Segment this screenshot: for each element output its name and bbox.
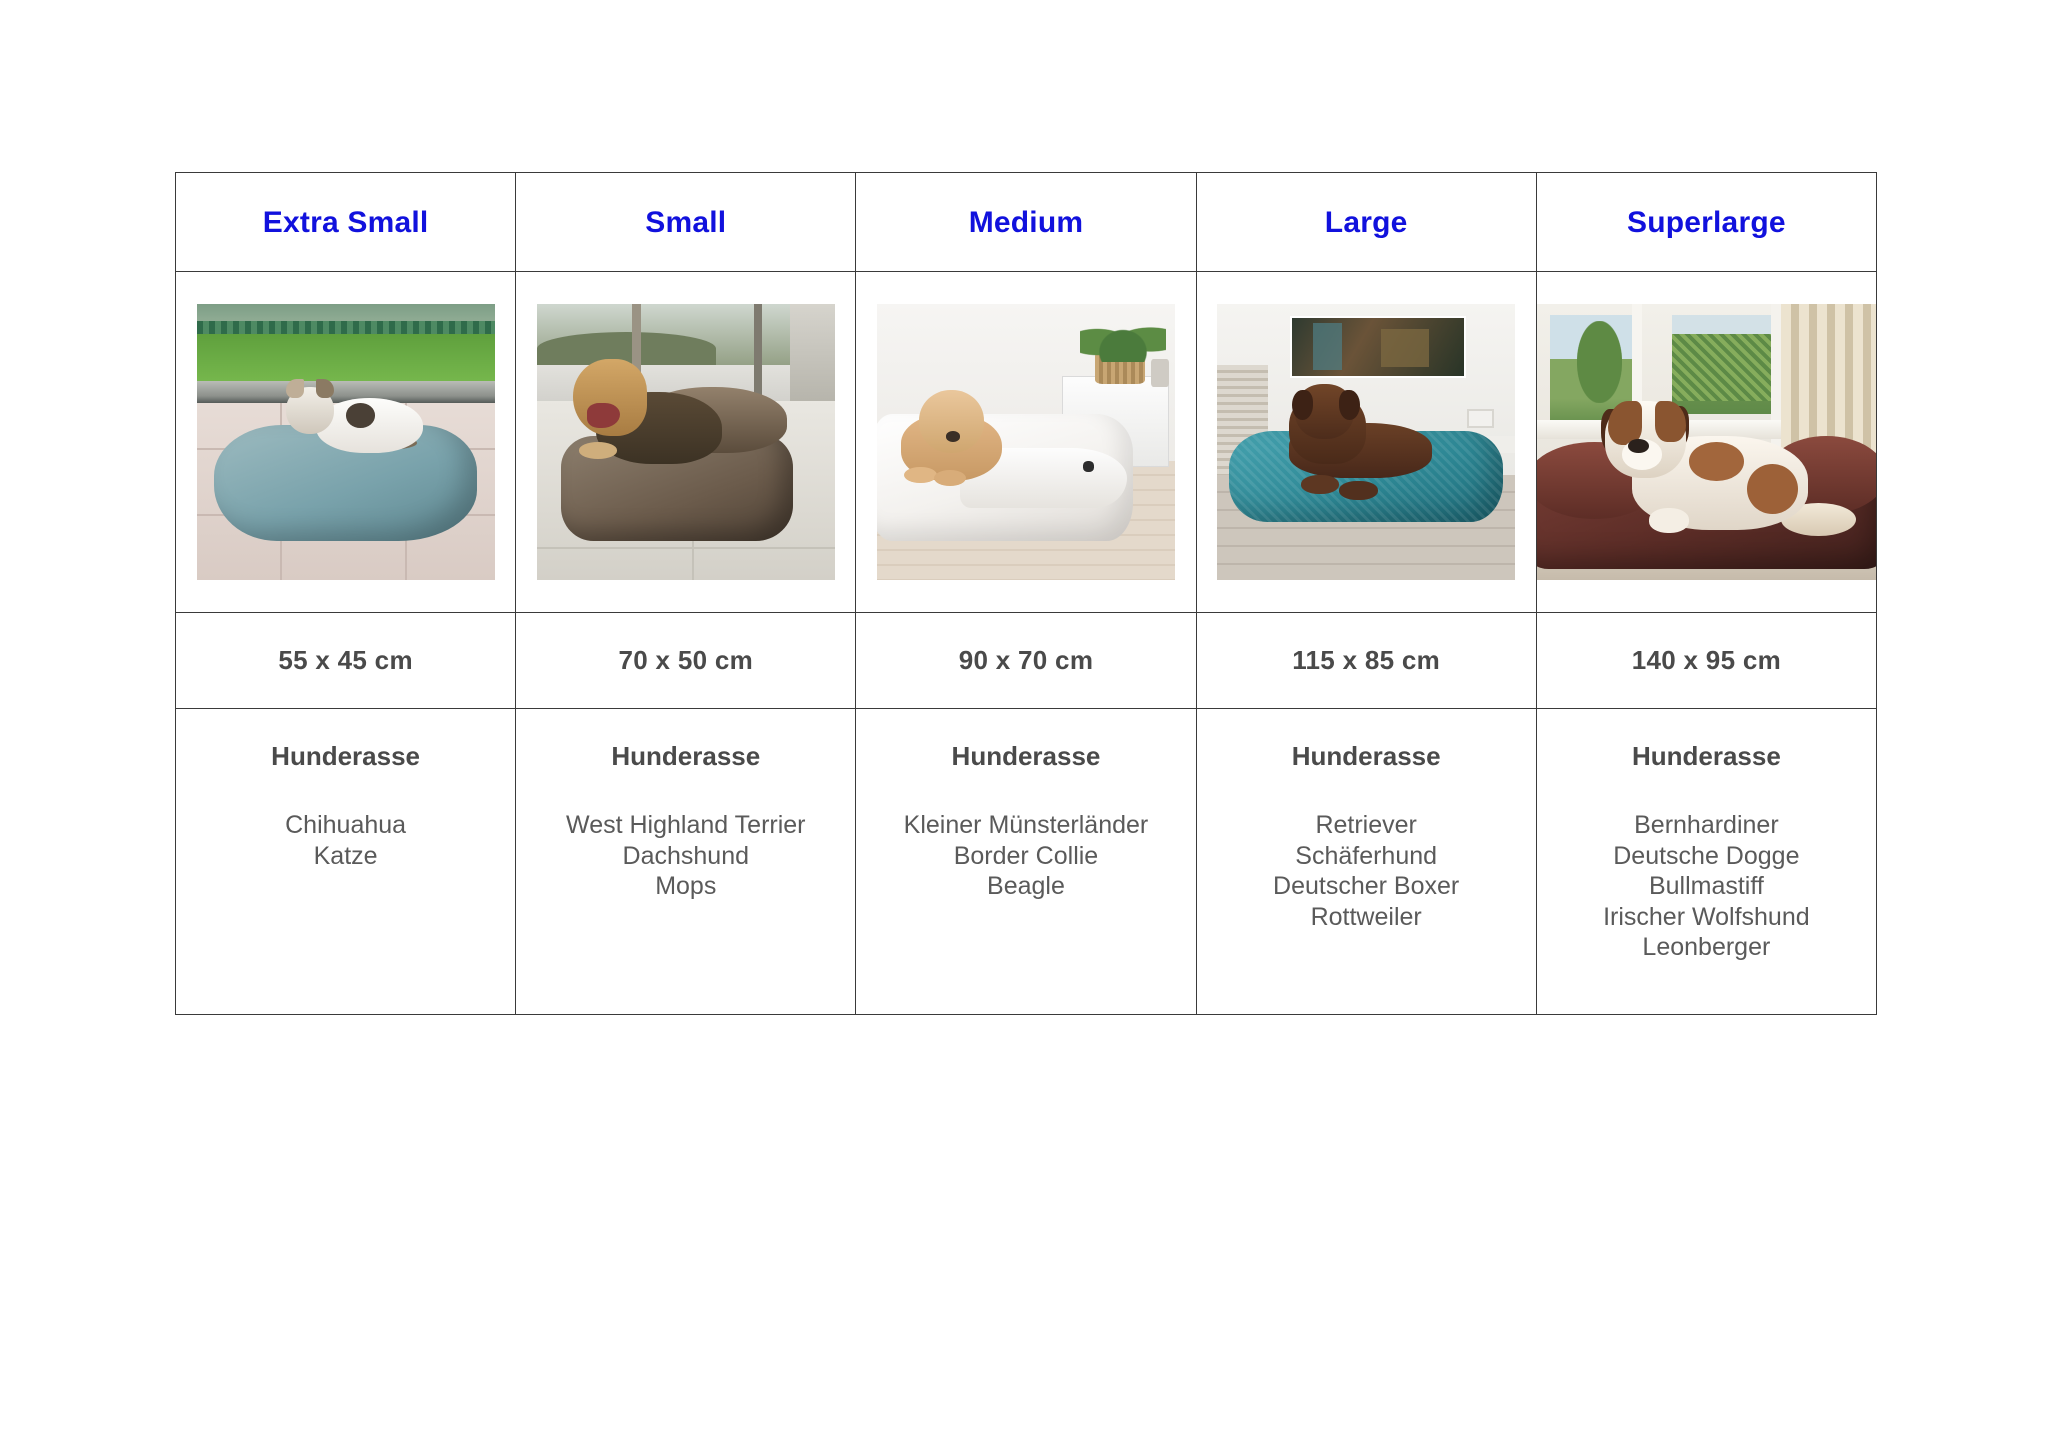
page-canvas: Extra Small Small Medium Large Superlarg… <box>0 0 2048 1448</box>
p5-tree <box>1577 321 1621 404</box>
p4-dog-paw-left <box>1301 475 1340 494</box>
breed-list-medium: Kleiner Münsterländer Border Collie Beag… <box>856 810 1195 902</box>
cell-category-medium[interactable]: Medium <box>856 173 1196 272</box>
breed-item: Bernhardiner <box>1537 810 1876 841</box>
p5-dog-spot-1 <box>1689 442 1743 481</box>
breed-box-medium: Hunderasse Kleiner Münsterländer Border … <box>856 709 1195 902</box>
p4-artwork-detail-2 <box>1381 329 1429 368</box>
cell-photo-medium[interactable] <box>856 272 1196 613</box>
dimension-large: 115 x 85 cm <box>1197 645 1536 676</box>
breed-box-extra-small: Hunderasse Chihuahua Katze <box>176 709 515 871</box>
photo-medium[interactable] <box>877 304 1175 580</box>
category-title-extra-small: Extra Small <box>176 206 515 239</box>
breed-list-small: West Highland Terrier Dachshund Mops <box>516 810 855 902</box>
breed-item: Dachshund <box>516 841 855 872</box>
cell-breeds-medium[interactable]: Hunderasse Kleiner Münsterländer Border … <box>856 709 1196 1015</box>
cell-breeds-superlarge[interactable]: Hunderasse Bernhardiner Deutsche Dogge B… <box>1536 709 1876 1015</box>
cell-category-extra-small[interactable]: Extra Small <box>176 173 516 272</box>
p2-hill <box>537 332 716 365</box>
breed-item: Irischer Wolfshund <box>1537 902 1876 933</box>
p4-power-socket <box>1467 409 1494 428</box>
p3-dog-paw-left <box>904 467 937 484</box>
breed-box-small: Hunderasse West Highland Terrier Dachshu… <box>516 709 855 902</box>
breed-item: Schäferhund <box>1197 841 1536 872</box>
breed-item: Bullmastiff <box>1537 871 1876 902</box>
dog-bed-size-table: Extra Small Small Medium Large Superlarg… <box>175 172 1877 1015</box>
breed-list-superlarge: Bernhardiner Deutsche Dogge Bullmastiff … <box>1537 810 1876 963</box>
cell-breeds-large[interactable]: Hunderasse Retriever Schäferhund Deutsch… <box>1196 709 1536 1015</box>
photo-wrap-extra-small <box>176 272 515 612</box>
p2-floor-line-1 <box>537 547 835 549</box>
breed-item: Retriever <box>1197 810 1536 841</box>
cell-photo-large[interactable] <box>1196 272 1536 613</box>
table-row-breeds: Hunderasse Chihuahua Katze Hunderasse We… <box>176 709 1877 1015</box>
p1-grass <box>197 334 495 384</box>
breed-item: Mops <box>516 871 855 902</box>
p5-dog-nose <box>1628 439 1648 453</box>
p2-right-wall <box>790 304 835 403</box>
breed-item: Border Collie <box>856 841 1195 872</box>
cell-photo-extra-small[interactable] <box>176 272 516 613</box>
p2-window-mullion-2 <box>754 304 762 403</box>
breed-box-large: Hunderasse Retriever Schäferhund Deutsch… <box>1197 709 1536 932</box>
photo-wrap-medium <box>856 272 1195 612</box>
p1-cat-ear-left <box>286 379 304 398</box>
cell-dimension-large[interactable]: 115 x 85 cm <box>1196 613 1536 709</box>
breed-heading-medium: Hunderasse <box>856 741 1195 772</box>
breed-item: Katze <box>176 841 515 872</box>
p5-dog-paw <box>1649 508 1690 533</box>
category-title-superlarge: Superlarge <box>1537 206 1876 239</box>
p3-dog-head <box>919 390 985 453</box>
category-title-medium: Medium <box>856 206 1195 239</box>
breed-heading-small: Hunderasse <box>516 741 855 772</box>
cell-dimension-small[interactable]: 70 x 50 cm <box>516 613 856 709</box>
photo-small[interactable] <box>537 304 835 580</box>
p5-hedge <box>1672 334 1774 400</box>
p2-dog-paw <box>579 442 618 459</box>
breed-item: Rottweiler <box>1197 902 1536 933</box>
photo-wrap-large <box>1197 272 1536 612</box>
cell-dimension-superlarge[interactable]: 140 x 95 cm <box>1536 613 1876 709</box>
cell-photo-superlarge[interactable] <box>1536 272 1876 613</box>
photo-wrap-small <box>516 272 855 612</box>
table-row-photos <box>176 272 1877 613</box>
breed-list-large: Retriever Schäferhund Deutscher Boxer Ro… <box>1197 810 1536 932</box>
category-title-small: Small <box>516 206 855 239</box>
breed-heading-large: Hunderasse <box>1197 741 1536 772</box>
p3-plant <box>1080 312 1166 362</box>
category-title-large: Large <box>1197 206 1536 239</box>
breed-box-superlarge: Hunderasse Bernhardiner Deutsche Dogge B… <box>1537 709 1876 963</box>
p4-artwork-detail-1 <box>1313 323 1343 370</box>
breed-list-extra-small: Chihuahua Katze <box>176 810 515 871</box>
cell-dimension-extra-small[interactable]: 55 x 45 cm <box>176 613 516 709</box>
breed-item: Deutscher Boxer <box>1197 871 1536 902</box>
breed-item: Leonberger <box>1537 932 1876 963</box>
table-row-dimensions: 55 x 45 cm 70 x 50 cm 90 x 70 cm 115 x 8… <box>176 613 1877 709</box>
photo-large[interactable] <box>1217 304 1515 580</box>
p4-dog-ear-left <box>1292 390 1313 420</box>
cell-photo-small[interactable] <box>516 272 856 613</box>
cell-category-large[interactable]: Large <box>1196 173 1536 272</box>
dimension-superlarge: 140 x 95 cm <box>1537 645 1876 676</box>
cell-breeds-extra-small[interactable]: Hunderasse Chihuahua Katze <box>176 709 516 1015</box>
p3-vase <box>1151 359 1169 387</box>
breed-item: Kleiner Münsterländer <box>856 810 1195 841</box>
p1-cat-ear-right <box>316 379 334 398</box>
table-row-categories: Extra Small Small Medium Large Superlarg… <box>176 173 1877 272</box>
p4-dog-ear-right <box>1339 390 1360 420</box>
photo-wrap-superlarge <box>1537 272 1876 612</box>
breed-item: Deutsche Dogge <box>1537 841 1876 872</box>
cell-dimension-medium[interactable]: 90 x 70 cm <box>856 613 1196 709</box>
cell-category-superlarge[interactable]: Superlarge <box>1536 173 1876 272</box>
dimension-small: 70 x 50 cm <box>516 645 855 676</box>
cell-category-small[interactable]: Small <box>516 173 856 272</box>
p5-dog-spot-2 <box>1747 464 1798 514</box>
breed-item: Chihuahua <box>176 810 515 841</box>
photo-superlarge[interactable] <box>1537 304 1876 580</box>
dimension-extra-small: 55 x 45 cm <box>176 645 515 676</box>
dimension-medium: 90 x 70 cm <box>856 645 1195 676</box>
breed-heading-superlarge: Hunderasse <box>1537 741 1876 772</box>
breed-item: Beagle <box>856 871 1195 902</box>
p4-dog-paw-right <box>1339 481 1378 500</box>
photo-extra-small[interactable] <box>197 304 495 580</box>
cell-breeds-small[interactable]: Hunderasse West Highland Terrier Dachshu… <box>516 709 856 1015</box>
breed-item: West Highland Terrier <box>516 810 855 841</box>
breed-heading-extra-small: Hunderasse <box>176 741 515 772</box>
